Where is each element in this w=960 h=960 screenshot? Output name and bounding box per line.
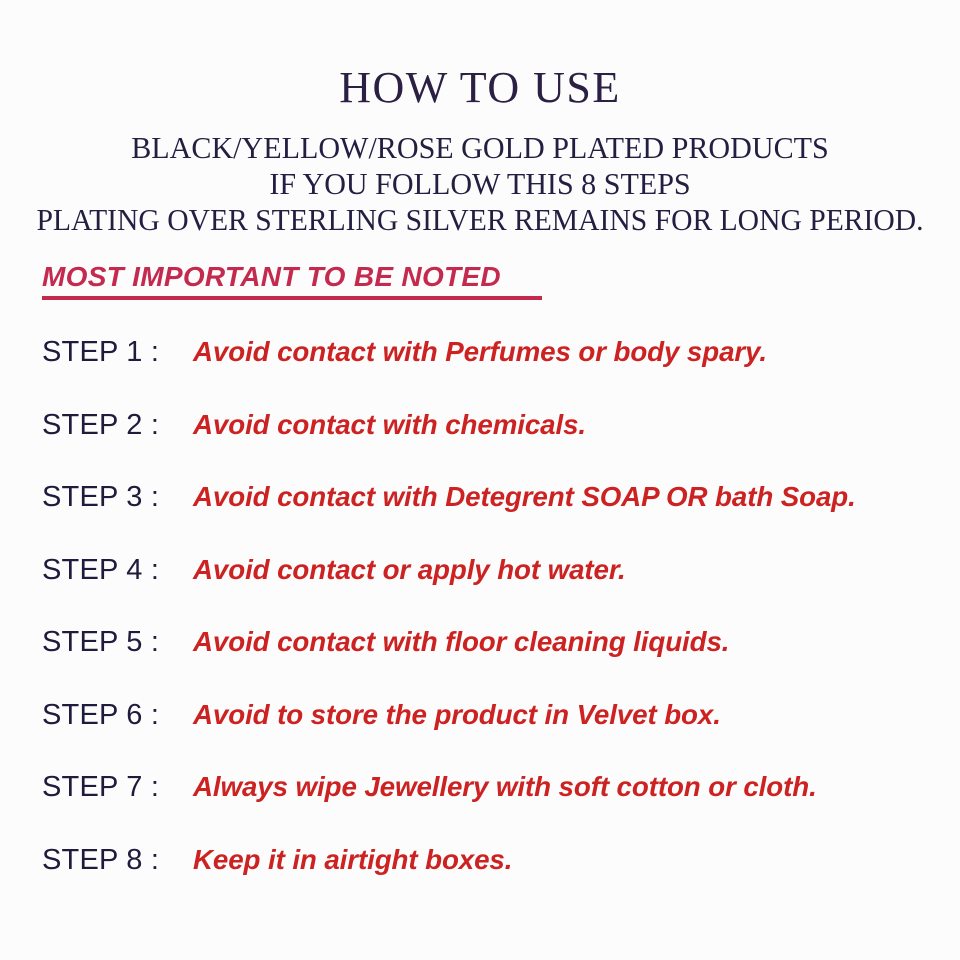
notice-heading: MOST IMPORTANT TO BE NOTED (42, 262, 501, 293)
step-label: STEP 3 : (42, 481, 193, 514)
steps-list: STEP 1 : Avoid contact with Perfumes or … (42, 336, 942, 916)
step-label: STEP 7 : (42, 771, 193, 804)
step-text: Avoid to store the product in Velvet box… (193, 699, 721, 731)
header-block: HOW TO USE BLACK/YELLOW/ROSE GOLD PLATED… (0, 0, 960, 238)
step-row: STEP 8 : Keep it in airtight boxes. (42, 844, 942, 917)
step-label: STEP 6 : (42, 699, 193, 732)
step-row: STEP 4 : Avoid contact or apply hot wate… (42, 554, 942, 627)
step-row: STEP 3 : Avoid contact with Detegrent SO… (42, 481, 942, 554)
step-text: Always wipe Jewellery with soft cotton o… (193, 771, 817, 803)
step-label: STEP 4 : (42, 554, 193, 587)
step-row: STEP 6 : Avoid to store the product in V… (42, 699, 942, 772)
notice-underline (42, 296, 542, 300)
step-row: STEP 1 : Avoid contact with Perfumes or … (42, 336, 942, 409)
page-title: HOW TO USE (0, 0, 960, 110)
subtitle-block: BLACK/YELLOW/ROSE GOLD PLATED PRODUCTS I… (0, 130, 960, 238)
step-label: STEP 8 : (42, 844, 193, 877)
notice-heading-block: MOST IMPORTANT TO BE NOTED (42, 262, 542, 300)
subtitle-line-3: PLATING OVER STERLING SILVER REMAINS FOR… (22, 202, 939, 238)
step-label: STEP 1 : (42, 336, 193, 369)
step-label: STEP 5 : (42, 626, 193, 659)
step-text: Avoid contact with Detegrent SOAP OR bat… (193, 481, 856, 513)
instruction-card: HOW TO USE BLACK/YELLOW/ROSE GOLD PLATED… (0, 0, 960, 960)
step-text: Avoid contact with floor cleaning liquid… (193, 626, 729, 658)
step-text: Keep it in airtight boxes. (193, 844, 512, 876)
step-text: Avoid contact with chemicals. (193, 409, 586, 441)
step-text: Avoid contact with Perfumes or body spar… (193, 336, 767, 368)
step-label: STEP 2 : (42, 409, 193, 442)
subtitle-line-1: BLACK/YELLOW/ROSE GOLD PLATED PRODUCTS (14, 130, 945, 166)
step-row: STEP 7 : Always wipe Jewellery with soft… (42, 771, 942, 844)
step-row: STEP 2 : Avoid contact with chemicals. (42, 409, 942, 482)
subtitle-line-2: IF YOU FOLLOW THIS 8 STEPS (14, 166, 945, 202)
step-row: STEP 5 : Avoid contact with floor cleani… (42, 626, 942, 699)
step-text: Avoid contact or apply hot water. (193, 554, 626, 586)
